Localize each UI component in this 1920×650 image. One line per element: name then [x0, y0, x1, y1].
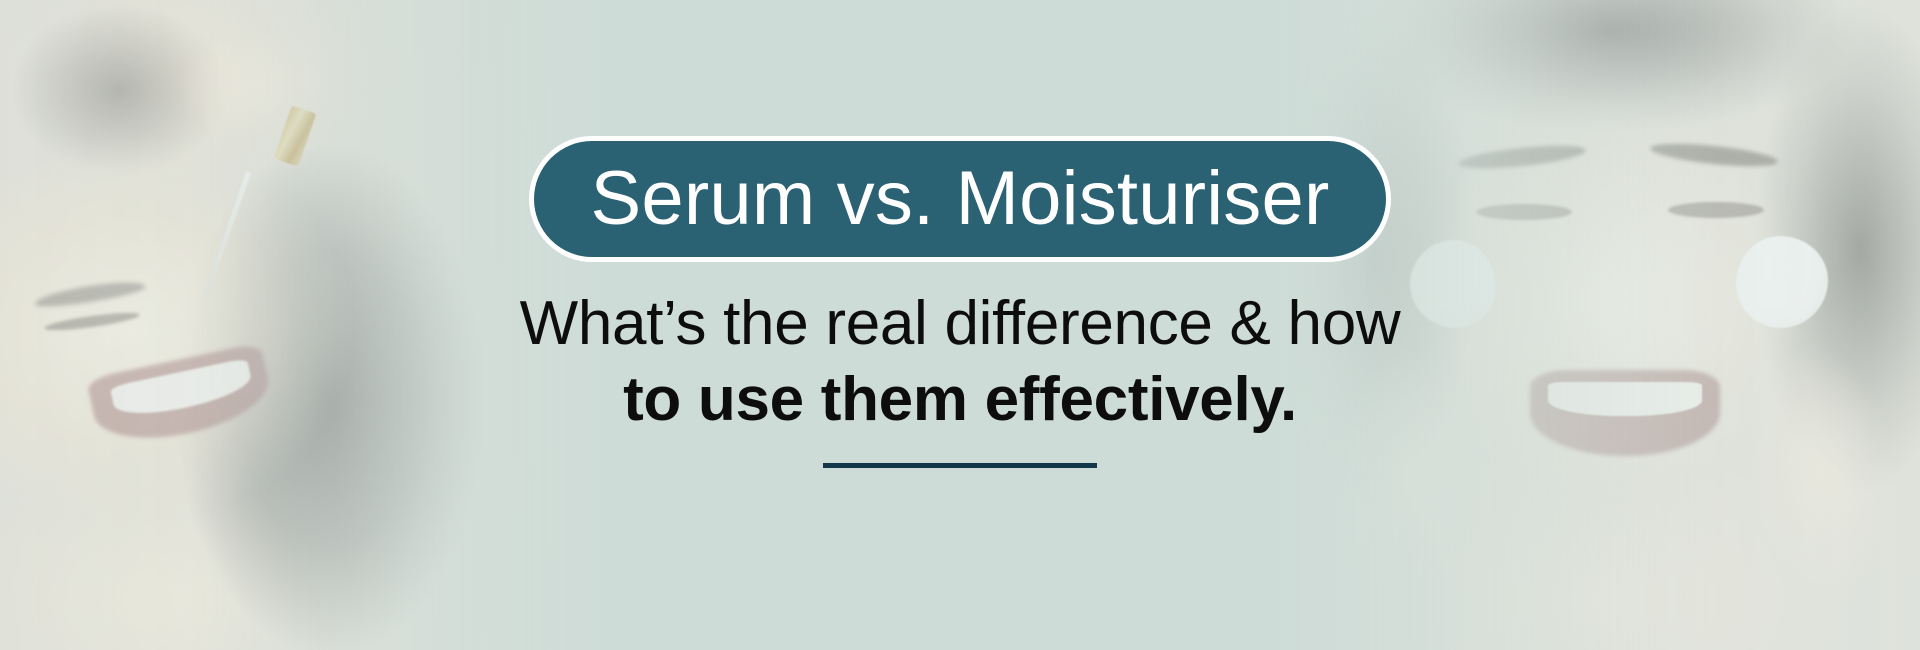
subtitle-line-2: to use them effectively. [520, 362, 1401, 438]
promo-banner: Serum vs. Moisturiser What’s the real di… [0, 0, 1920, 650]
subtitle-line-1: What’s the real difference & how [520, 286, 1401, 362]
decorative-divider [823, 463, 1097, 468]
banner-title: Serum vs. Moisturiser [590, 161, 1329, 237]
banner-subtitle: What’s the real difference & how to use … [520, 286, 1401, 437]
title-badge: Serum vs. Moisturiser [529, 136, 1390, 262]
banner-content: Serum vs. Moisturiser What’s the real di… [0, 0, 1920, 650]
